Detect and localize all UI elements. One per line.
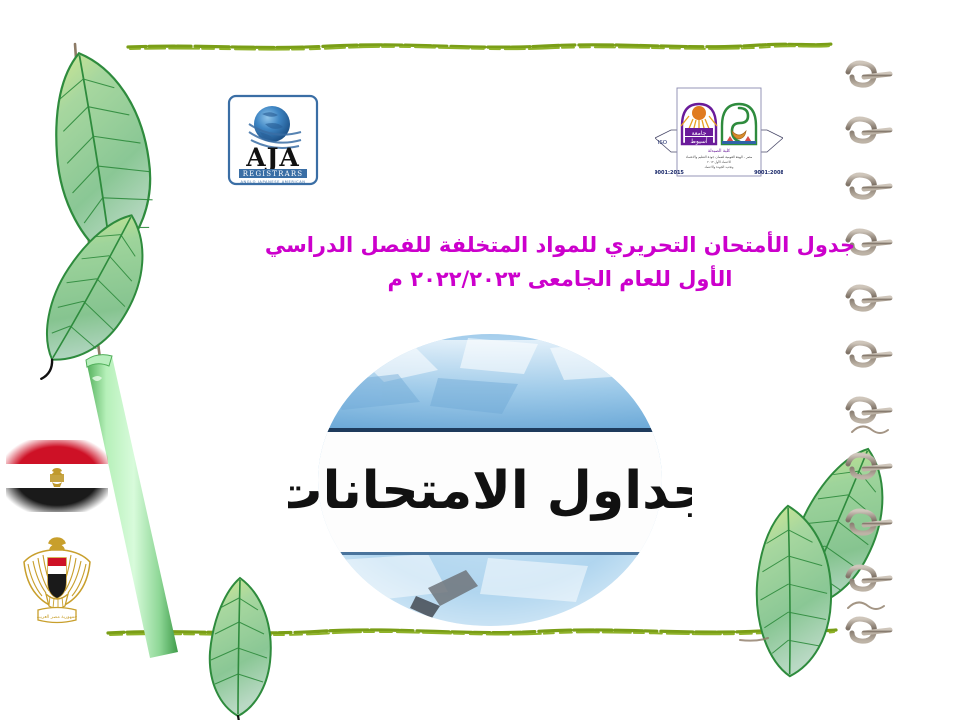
banner-title-text: جداول الامتحانات bbox=[288, 461, 692, 521]
aja-logo-tagline: ANGLO JAPANESE AMERICAN bbox=[240, 180, 305, 184]
spiral-binding-rings bbox=[838, 50, 908, 660]
aja-logo-text: AJA bbox=[245, 143, 300, 172]
iso-number-left: 9001:2015 bbox=[655, 170, 684, 176]
leaf-bottom-center bbox=[210, 578, 271, 720]
faculty-line-4: وتجديد الجودة والاعتماد bbox=[705, 165, 734, 169]
faculty-line-3: الاعتماد الأول ٢٠١٣ bbox=[707, 160, 731, 164]
assiut-university-faculty-logo: ISO ISO جامعة أسيوط bbox=[655, 86, 783, 180]
coat-shield-stripes bbox=[48, 558, 66, 598]
faculty-line-2: مصر - الهيئة القومية لضمان جودة التعليم … bbox=[686, 155, 753, 159]
assiut-emblem-label-1: جامعة bbox=[692, 130, 707, 137]
slide-title: جدول الأمتحان التحريري للمواد المتخلفة ل… bbox=[250, 228, 870, 296]
coat-of-arms-scroll-text: جمهورية مصر العربية bbox=[37, 615, 78, 620]
egypt-flag bbox=[6, 440, 108, 512]
faculty-line-1: كلية الصيدلة bbox=[708, 148, 731, 154]
title-line-2: الأول للعام الجامعى ٢٠٢٢/٢٠٢٣ م bbox=[250, 262, 870, 296]
egypt-coat-of-arms: جمهورية مصر العربية bbox=[18, 532, 96, 628]
aja-logo-subtext: REGISTRARS bbox=[243, 170, 304, 178]
title-line-1: جدول الأمتحان التحريري للمواد المتخلفة ل… bbox=[250, 228, 870, 262]
pharmacy-faculty-emblem bbox=[722, 104, 756, 144]
assiut-emblem-label-2: أسيوط bbox=[690, 137, 707, 145]
aja-registrars-logo: AJA REGISTRARS ANGLO JAPANESE AMERICAN bbox=[227, 94, 319, 186]
assiut-university-emblem: جامعة أسيوط bbox=[681, 104, 717, 145]
exam-schedules-banner: جداول الامتحانات bbox=[288, 330, 692, 630]
iso-number-right: 9001:2008 bbox=[754, 170, 783, 176]
slide-canvas: AJA REGISTRARS ANGLO JAPANESE AMERICAN I… bbox=[0, 0, 960, 720]
iso-label-left: ISO bbox=[658, 140, 667, 146]
